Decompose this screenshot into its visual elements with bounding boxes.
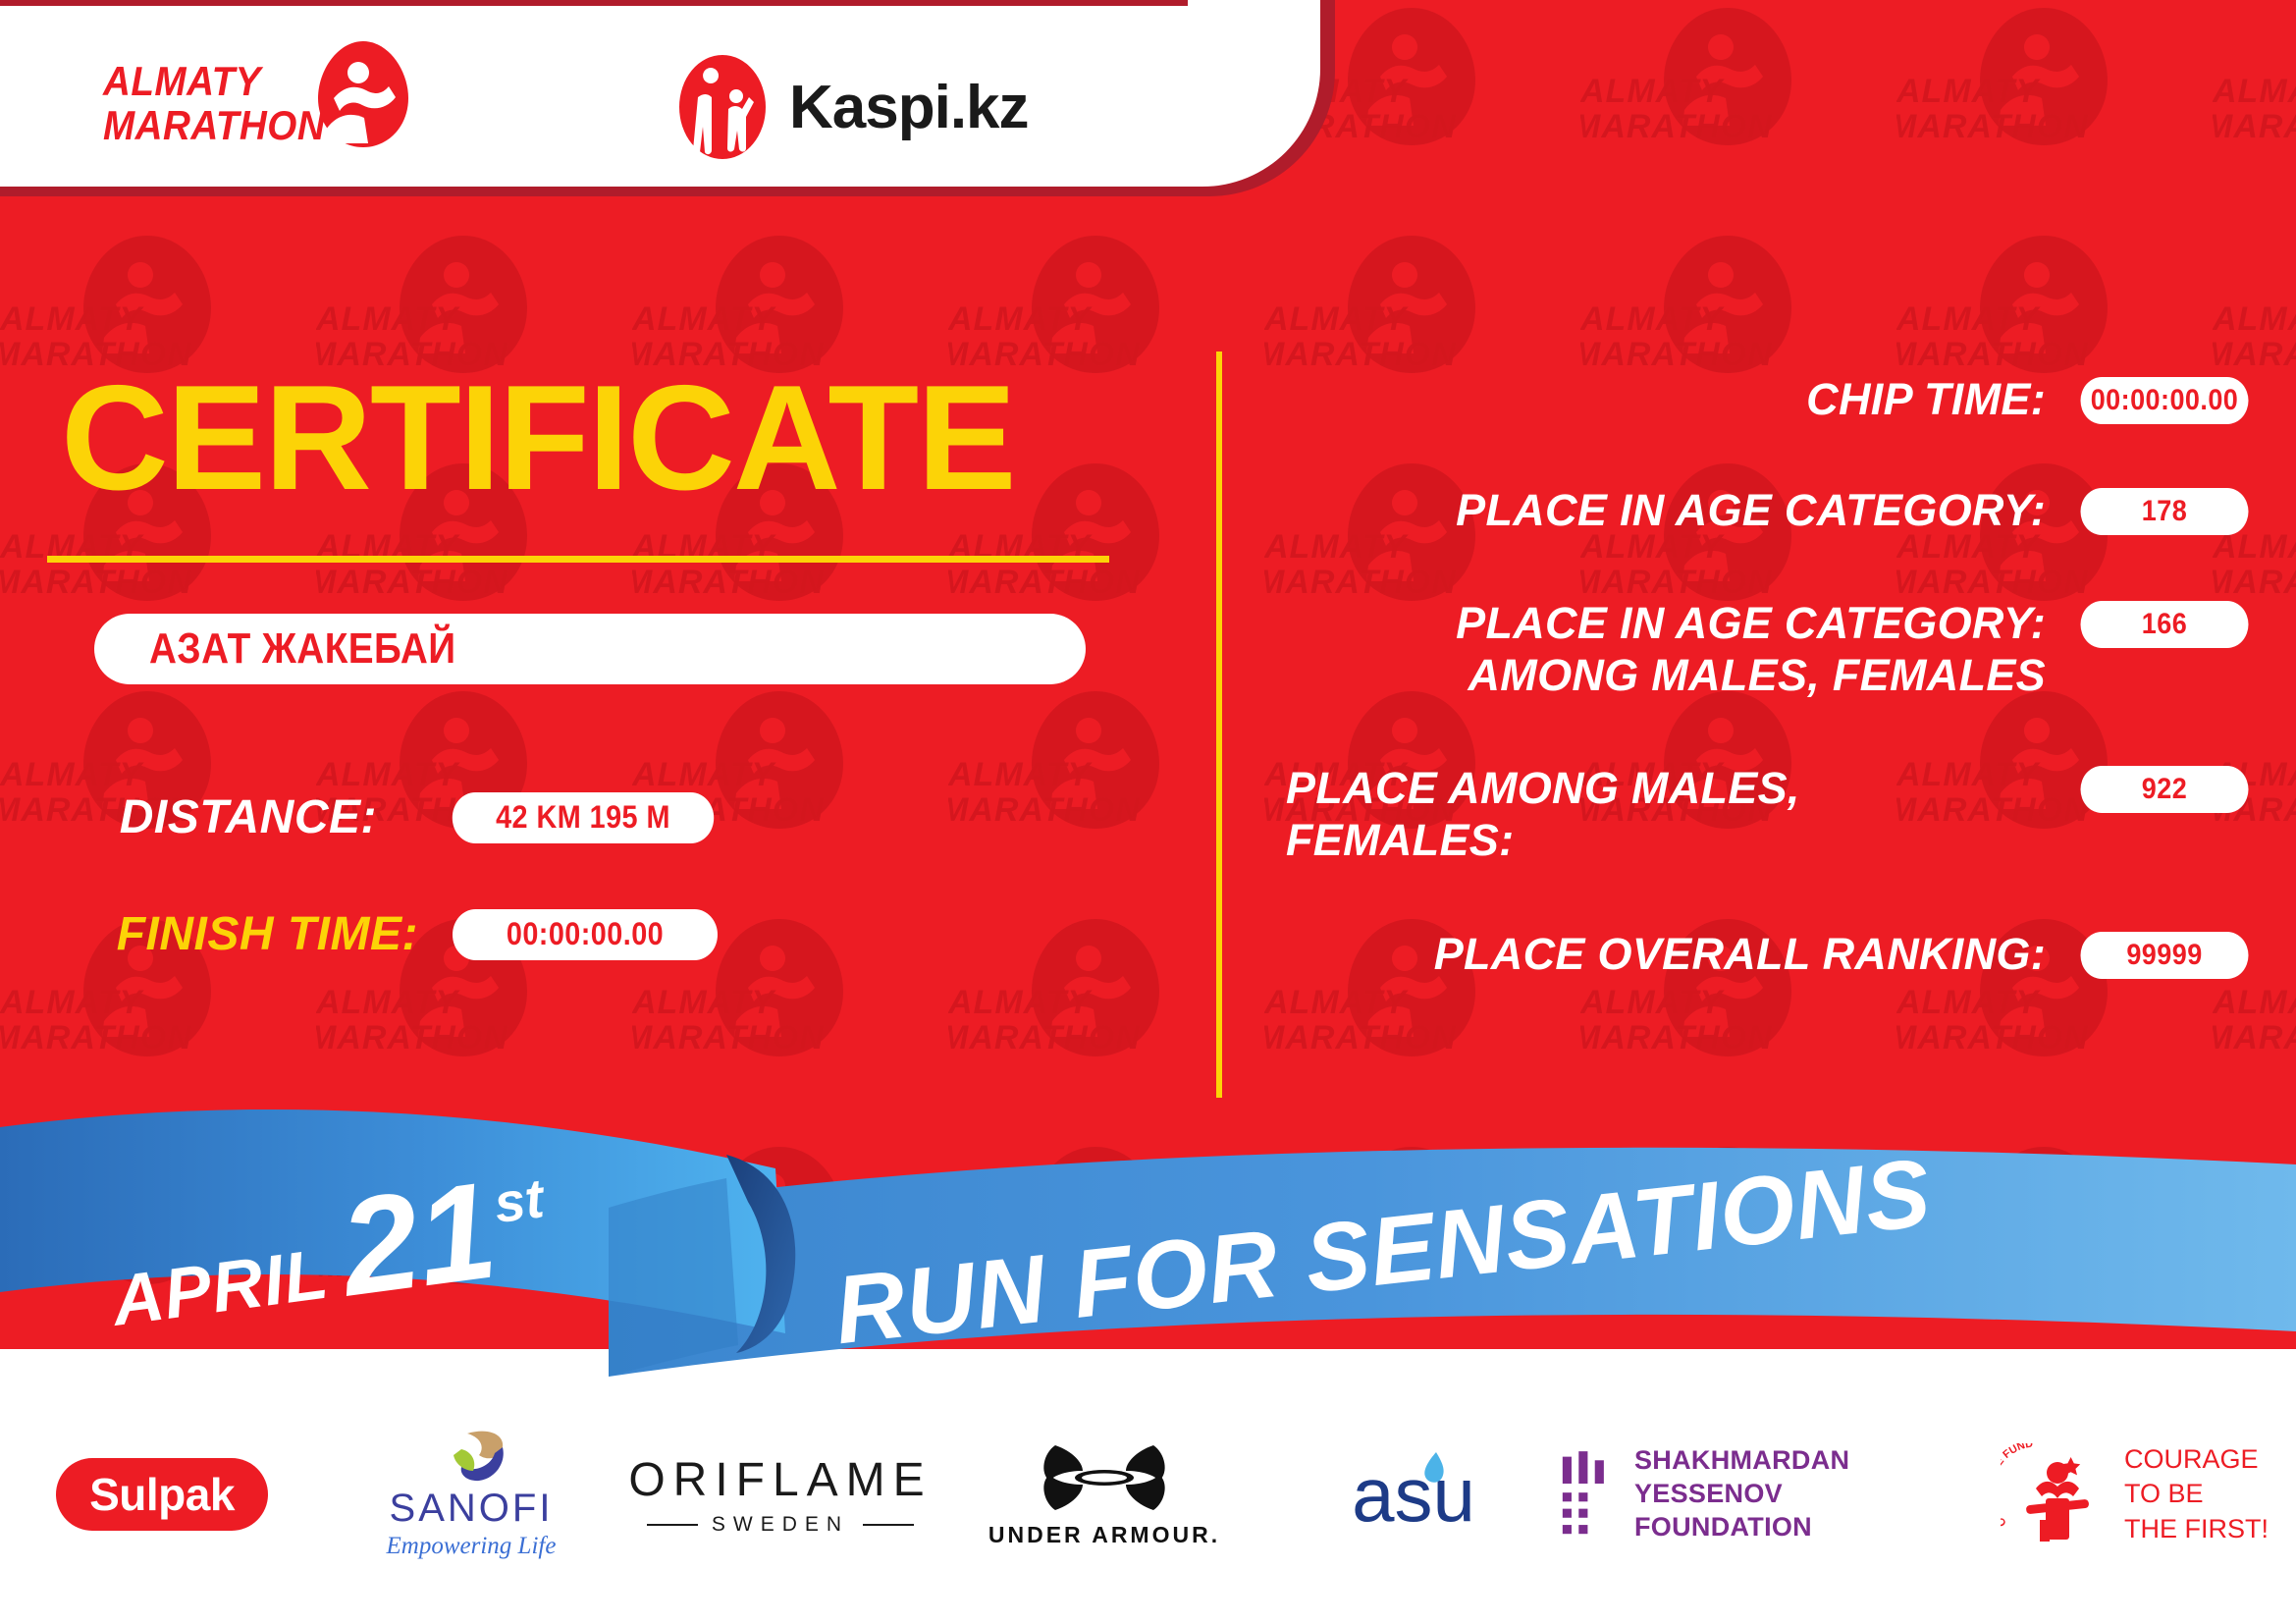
yessenov-wordmark: SHAKHMARDAN YESSENOVFOUNDATION: [1634, 1444, 1973, 1543]
asu-letters: asu: [1352, 1451, 1475, 1538]
stat-label: PLACE IN AGE CATEGORY:: [1286, 484, 2046, 536]
distance-label: DISTANCE:: [94, 790, 377, 844]
stat-row: CHIP TIME: 00:00:00.00: [1286, 373, 2258, 425]
yessenov-mark-icon: [1561, 1447, 1613, 1542]
event-day-suffix: st: [491, 1165, 548, 1235]
finish-time-label: FINISH TIME:: [94, 907, 418, 961]
sponsor-logo-courage-fund: CORPORATE FUND COURAGETO BETHE FIRST!: [1973, 1442, 2296, 1545]
divider-rule-right: [863, 1524, 914, 1526]
oriflame-wordmark: ORIFLAME: [628, 1453, 932, 1507]
stat-label: PLACE OVERALL RANKING:: [1286, 928, 2046, 980]
almaty-marathon-wordmark: ALMATY MARATHON: [103, 59, 311, 148]
under-armour-wordmark: UNDER ARMOUR.: [988, 1522, 1220, 1548]
kaspi-logo: Kaspi.kz: [677, 54, 1029, 160]
finish-time-value: 00:00:00.00: [453, 909, 718, 960]
marathon-logo-line1: ALMATY: [103, 59, 311, 103]
stat-row: PLACE IN AGE CATEGORY: 178: [1286, 484, 2258, 536]
marathon-logo-line2: MARATHON: [103, 103, 311, 147]
participant-name-field: АЗАТ ЖАКЕБАЙ: [94, 614, 1086, 684]
sponsor-logo-yessenov-foundation: SHAKHMARDAN YESSENOVFOUNDATION: [1561, 1444, 1973, 1543]
certificate-canvas: ALMATY MARATHON ALMATY MARATHON: [0, 0, 2296, 1624]
certificate-left-column: CERTIFICATE АЗАТ ЖАКЕБАЙ DISTANCE: 42 KM…: [0, 187, 1207, 961]
oriflame-subline: SWEDEN: [618, 1513, 942, 1537]
event-day: 21: [334, 1166, 502, 1312]
finish-time-row: FINISH TIME: 00:00:00.00: [94, 907, 1207, 961]
oriflame-tagline: SWEDEN: [712, 1513, 849, 1537]
courage-fund-mark-icon: CORPORATE FUND: [2001, 1443, 2110, 1545]
divider-rule-left: [647, 1524, 698, 1526]
almaty-marathon-logo: ALMATY MARATHON: [103, 47, 407, 155]
certificate-stats-column: CHIP TIME: 00:00:00.00 PLACE IN AGE CATE…: [1286, 373, 2258, 980]
asu-droplet-icon: [1420, 1450, 1450, 1489]
sponsor-logos-row: Sulpak SANOFI Empowering Life ORIFLAME S…: [0, 1426, 2296, 1563]
stat-row: PLACE OVERALL RANKING: 99999: [1286, 928, 2258, 980]
sanofi-wordmark: SANOFI: [390, 1487, 554, 1531]
runner-drop-icon: [304, 37, 422, 155]
page-title: CERTIFICATE: [61, 187, 1207, 513]
title-underline: [47, 556, 1109, 563]
asu-wordmark: asu: [1352, 1456, 1475, 1533]
stat-value: 922: [2081, 766, 2249, 813]
stat-row: PLACE IN AGE CATEGORY:AMONG MALES, FEMAL…: [1286, 597, 2258, 701]
kaspi-mark-icon: [677, 54, 768, 160]
stat-value: 00:00:00.00: [2081, 377, 2249, 424]
header-top-rule: [0, 0, 1188, 6]
kaspi-wordmark: Kaspi.kz: [789, 73, 1029, 142]
sponsor-logo-oriflame: ORIFLAME SWEDEN: [618, 1453, 942, 1537]
sponsor-logo-sulpak: Sulpak: [0, 1458, 324, 1531]
stat-row: PLACE AMONG MALES,FEMALES: 922: [1286, 762, 2258, 866]
stat-label: PLACE IN AGE CATEGORY:AMONG MALES, FEMAL…: [1286, 597, 2046, 701]
stat-value: 178: [2081, 488, 2249, 535]
courage-fund-tagline: COURAGETO BETHE FIRST!: [2124, 1442, 2269, 1545]
sanofi-mark-icon: [430, 1430, 512, 1485]
stat-value: 166: [2081, 601, 2249, 648]
sponsor-logo-asu: asu: [1266, 1456, 1561, 1533]
stat-label: CHIP TIME:: [1286, 373, 2046, 425]
distance-row: DISTANCE: 42 KM 195 M: [94, 790, 1207, 844]
participant-name: АЗАТ ЖАКЕБАЙ: [149, 624, 456, 674]
svg-text:CORPORATE FUND: CORPORATE FUND: [2001, 1443, 2034, 1529]
stat-label: PLACE AMONG MALES,FEMALES:: [1286, 762, 2046, 866]
sponsor-logo-sanofi: SANOFI Empowering Life: [324, 1430, 618, 1560]
stat-value: 99999: [2081, 932, 2249, 979]
under-armour-mark-icon: [1026, 1441, 1183, 1514]
sanofi-tagline: Empowering Life: [387, 1533, 557, 1560]
sponsor-logo-under-armour: UNDER ARMOUR.: [942, 1441, 1266, 1548]
distance-value: 42 KM 195 M: [453, 792, 714, 843]
sulpak-wordmark: Sulpak: [56, 1458, 268, 1531]
column-divider: [1216, 352, 1222, 1098]
